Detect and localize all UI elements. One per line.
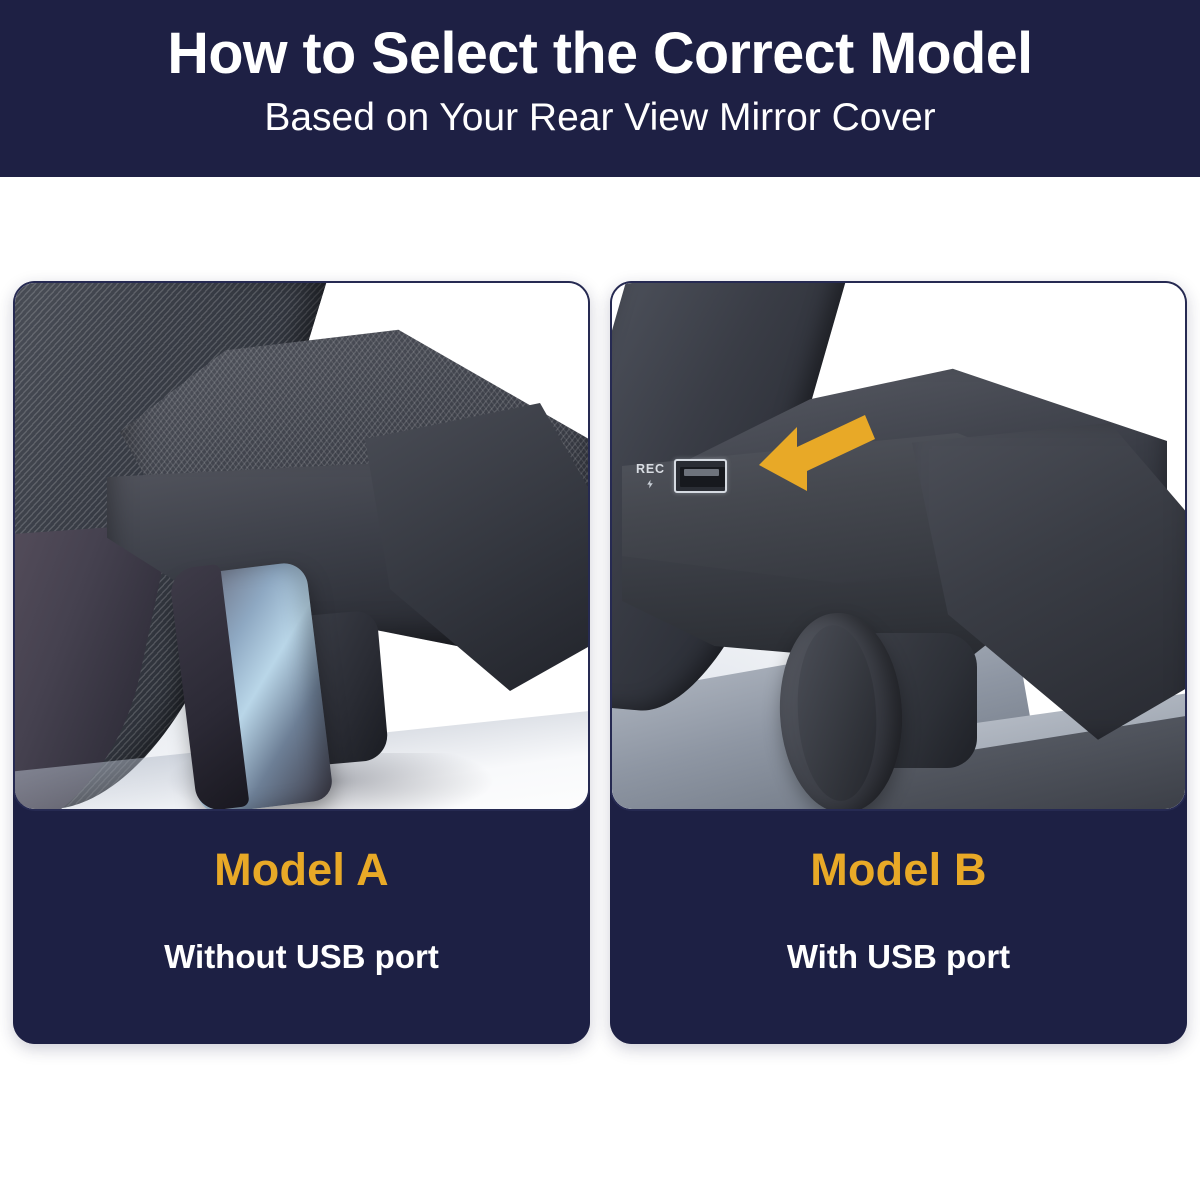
model-a-card[interactable]: Model A Without USB port <box>13 281 590 1044</box>
model-a-photo <box>13 281 590 811</box>
rec-label: REC <box>636 463 665 476</box>
model-b-description: With USB port <box>787 940 1010 973</box>
pointer-arrow-icon <box>757 411 877 496</box>
usb-port-group: REC <box>636 459 727 493</box>
model-a-label-panel: Model A Without USB port <box>13 811 590 1044</box>
model-b-name: Model B <box>810 847 986 892</box>
model-b-card[interactable]: REC Model B With USB po <box>610 281 1187 1044</box>
page-subtitle: Based on Your Rear View Mirror Cover <box>264 96 935 141</box>
usb-port-icon <box>674 459 727 493</box>
model-a-description: Without USB port <box>164 940 439 973</box>
page-title: How to Select the Correct Model <box>167 22 1032 87</box>
model-b-photo: REC <box>610 281 1187 811</box>
header-banner: How to Select the Correct Model Based on… <box>0 0 1200 177</box>
model-comparison-row: Model A Without USB port <box>13 281 1187 1044</box>
model-a-name: Model A <box>214 847 389 892</box>
model-b-label-panel: Model B With USB port <box>610 811 1187 1044</box>
lightning-bolt-icon <box>645 479 655 489</box>
